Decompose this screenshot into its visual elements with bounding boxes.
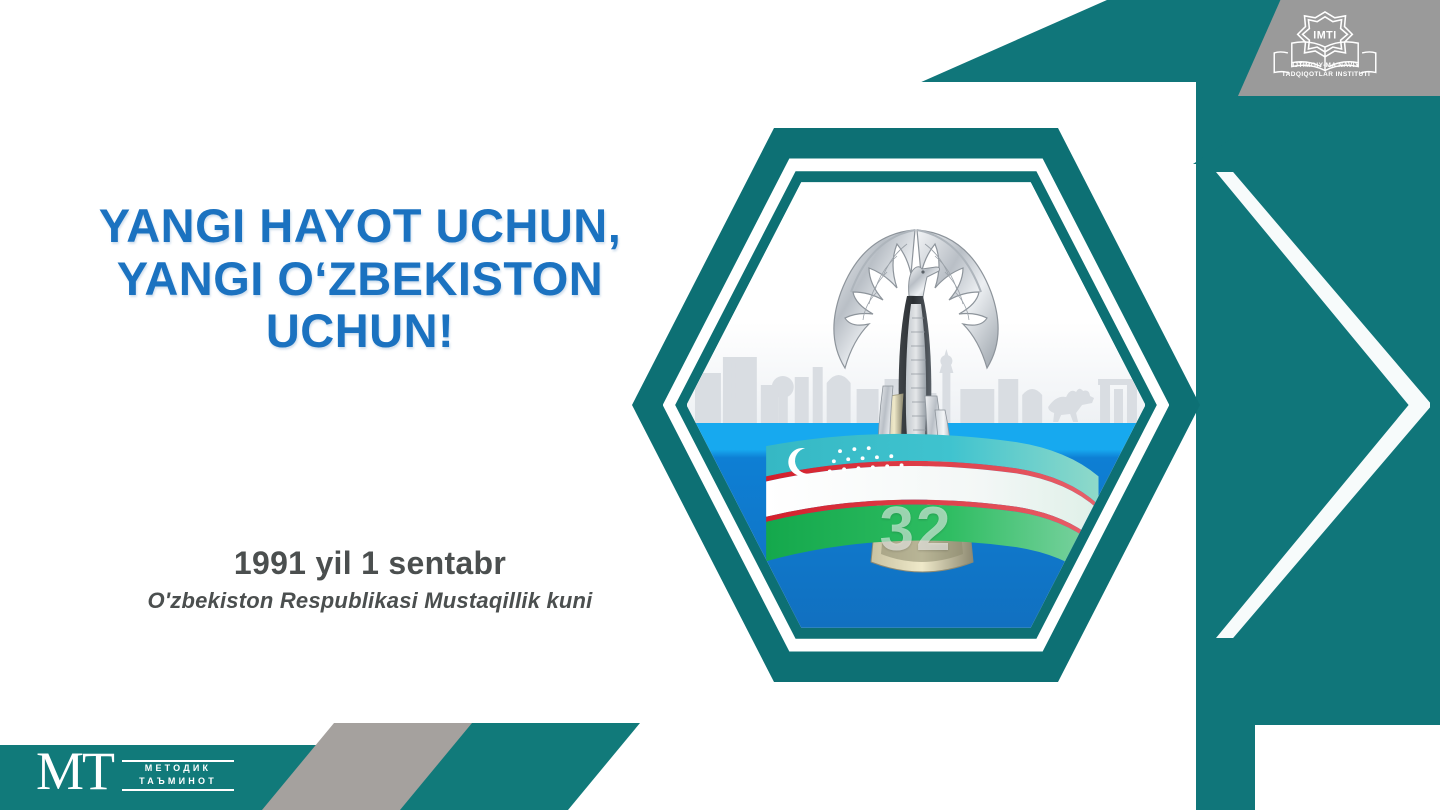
imti-logo-line1: IJTIMOIY-MA’NAVIY	[1258, 62, 1394, 71]
mt-rule-bottom	[122, 789, 234, 791]
imti-logo-text: IJTIMOIY-MA’NAVIY TADQIQOTLAR INSTITUTI	[1258, 62, 1394, 80]
svg-text:IMTI: IMTI	[1313, 29, 1336, 41]
imti-logo-line2: TADQIQOTLAR INSTITUTI	[1258, 71, 1394, 80]
headline-line-2: YANGI O‘ZBEKISTON	[10, 253, 710, 306]
bottom-right-white-sliver	[1255, 725, 1440, 810]
mt-logo-text: МЕТОДИК ТАЪМИНОТ	[122, 760, 234, 791]
mt-logo: MT МЕТОДИК ТАЪМИНОТ	[36, 748, 236, 806]
headline-line-1: YANGI HAYOT UCHUN,	[10, 200, 710, 253]
date-text: 1991 yil 1 sentabr	[30, 545, 710, 582]
independence-hexagon-emblem: 32	[632, 128, 1200, 682]
mt-logo-line2: ТАЪМИНОТ	[122, 775, 234, 789]
subtitle-text: O'zbekiston Respublikasi Mustaqillik kun…	[30, 588, 710, 614]
poster-canvas: 32 IMTI IJTIMOIY-MA’NAVIY TADQIQOTLAR IN…	[0, 0, 1440, 810]
mt-logo-line1: МЕТОДИК	[122, 762, 234, 776]
mt-monogram: MT	[36, 744, 113, 798]
page-title: YANGI HAYOT UCHUN, YANGI O‘ZBEKISTON UCH…	[10, 200, 710, 358]
headline-line-3: UCHUN!	[10, 305, 710, 358]
